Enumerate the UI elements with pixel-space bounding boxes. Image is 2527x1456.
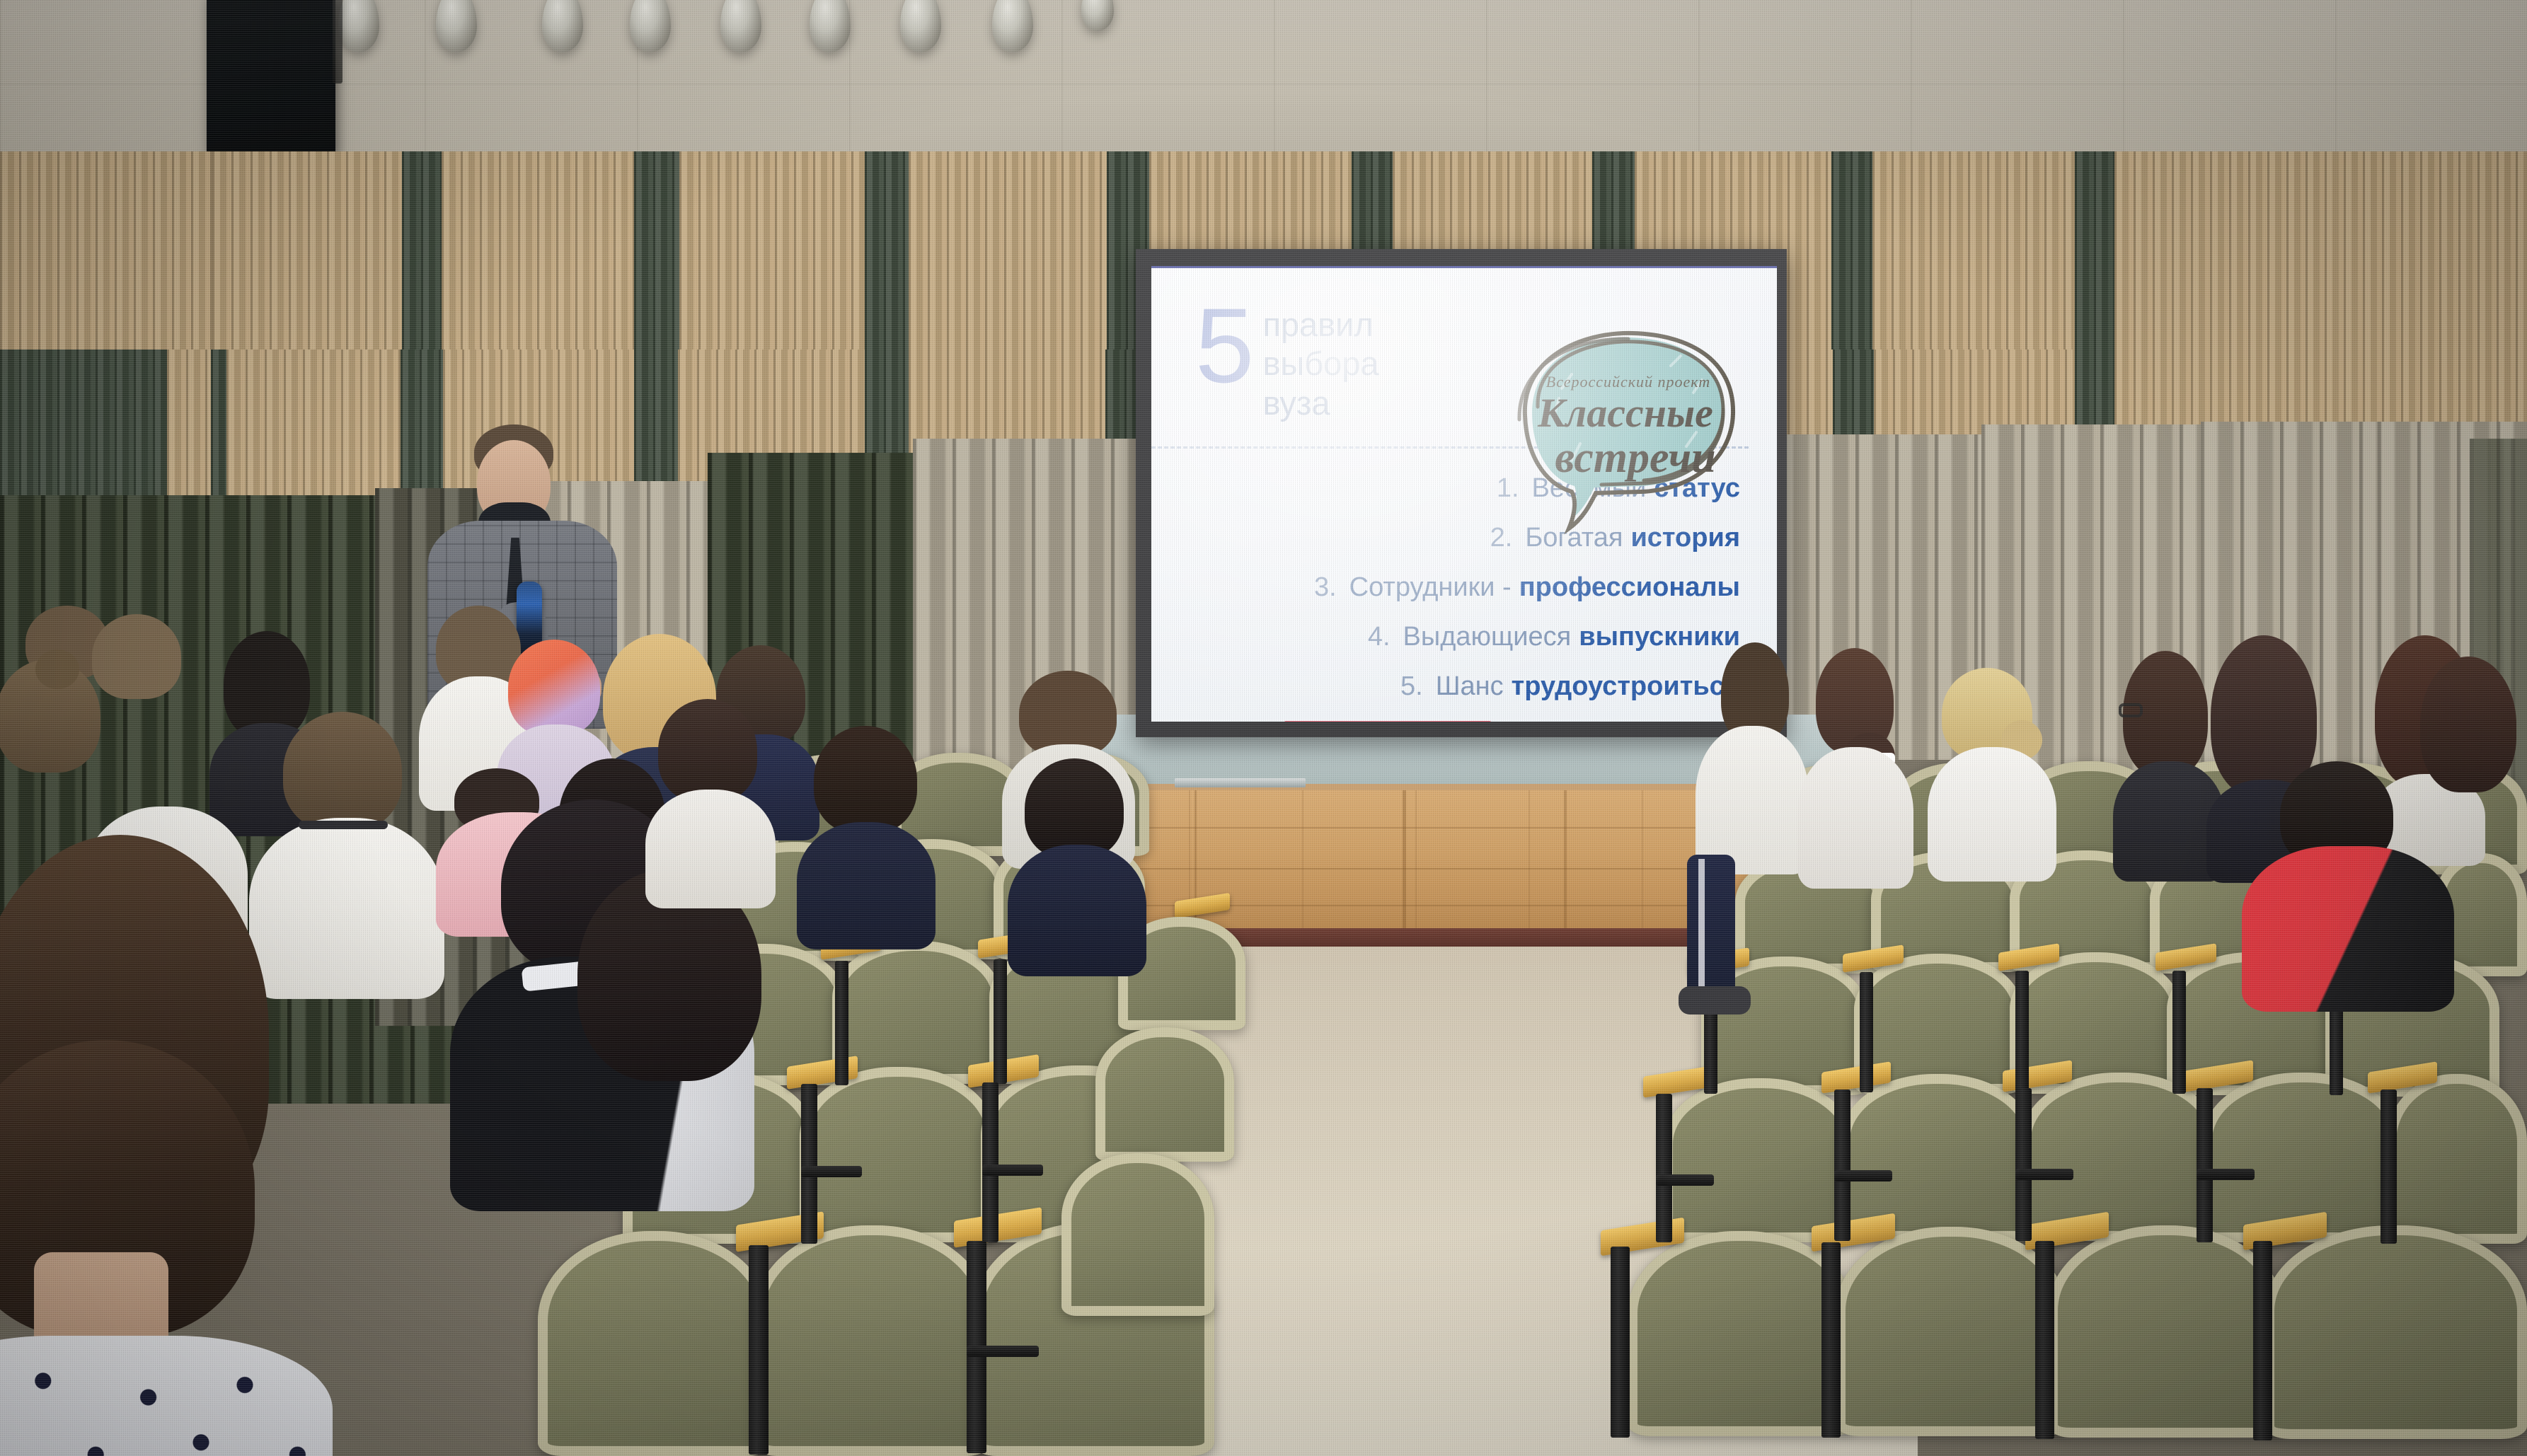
person-leg	[1687, 855, 1735, 996]
seat	[1836, 1227, 2066, 1436]
ceiling-light-icon	[992, 0, 1033, 52]
seat	[1061, 1153, 1214, 1316]
glasses-icon	[2119, 703, 2143, 717]
person-hair	[92, 614, 181, 699]
ceiling-light-icon	[810, 0, 851, 52]
seat-frame-post	[2253, 1241, 2272, 1440]
seat-frame-post	[2035, 1241, 2054, 1439]
list-item: 5. Шанс трудоустроиться	[1151, 671, 1740, 702]
person-torso	[1797, 747, 1913, 889]
person-hair	[814, 726, 917, 833]
list-item-number: 3.	[1314, 572, 1337, 603]
seat-frame-post	[1611, 1247, 1630, 1438]
list-item-number: 4.	[1368, 622, 1391, 652]
list-item-text: Выдающиеся	[1403, 622, 1572, 652]
list-item-keyword: трудоустроиться	[1512, 671, 1740, 702]
ceiling	[0, 0, 2527, 170]
seat	[832, 941, 1002, 1084]
person-hair	[658, 699, 757, 802]
person-leg-stripe	[1698, 859, 1705, 990]
list-item-keyword: профессионалы	[1519, 572, 1740, 603]
slide-big-number: 5	[1195, 296, 1251, 394]
list-item-text: Шанс	[1436, 671, 1504, 702]
person-torso	[797, 822, 936, 949]
ceiling-light-icon	[338, 0, 379, 52]
seat	[538, 1231, 771, 1456]
seat	[1095, 1027, 1234, 1162]
klassnye-vstrechi-logo: Всероссийский проект Классные встречи	[1504, 319, 1751, 538]
seat	[2264, 1225, 2527, 1439]
seat	[2021, 1073, 2219, 1241]
seat	[753, 1225, 991, 1456]
ceiling-light-icon	[720, 0, 761, 52]
seat-frame-post	[1860, 972, 1873, 1092]
seat-frame-post	[1656, 1094, 1672, 1242]
person-hair	[283, 712, 402, 831]
person-torso	[645, 790, 776, 908]
seat-frame-post	[994, 959, 1007, 1084]
seat-frame-post	[749, 1245, 769, 1455]
person-hair	[2420, 657, 2516, 792]
list-item-keyword: выпускники	[1579, 622, 1740, 652]
ceiling-light-icon	[630, 0, 671, 52]
person-hair	[1025, 758, 1124, 859]
seat-frame-post	[2381, 1090, 2397, 1244]
projection-screen: 5 правил выбора вуза 1. Весомый статус 2…	[1136, 249, 1787, 737]
seat-frame-bar	[2015, 1169, 2073, 1180]
person-torso-polka-dot	[0, 1336, 333, 1456]
seat-frame-post	[801, 1084, 817, 1244]
seat	[800, 1067, 996, 1242]
person-torso	[1008, 845, 1146, 976]
person-torso	[249, 818, 444, 999]
person-torso	[1928, 747, 2056, 882]
auditorium-photo: 5 правил выбора вуза 1. Весомый статус 2…	[0, 0, 2527, 1456]
person-shoe	[1679, 986, 1751, 1015]
seat-frame-bar	[1834, 1170, 1892, 1181]
seat-frame-bar	[1656, 1174, 1714, 1186]
seat	[1663, 1078, 1855, 1242]
logo-main-line-2: встречи	[1555, 434, 1715, 482]
seat-frame-bar	[982, 1165, 1043, 1176]
stage-edge-metal-strip	[1175, 778, 1306, 787]
logo-main-line-1: Классные	[1537, 390, 1713, 436]
seat	[1628, 1231, 1854, 1436]
ceiling-light-icon	[542, 0, 583, 52]
seat-frame-bar	[967, 1346, 1039, 1357]
seat-frame-post	[2015, 1088, 2032, 1241]
collar-stripe	[299, 821, 388, 829]
person-hair-dyed	[508, 640, 600, 736]
list-item: 4. Выдающиеся выпускники	[1151, 622, 1740, 652]
person-torso	[2242, 846, 2454, 1012]
ceiling-light-icon	[436, 0, 477, 52]
slide-heading-words: правил выбора вуза	[1262, 305, 1378, 422]
seat-frame-bar	[801, 1166, 862, 1177]
person-hair	[103, 700, 224, 819]
person-hair-bun	[35, 649, 79, 689]
ceiling-speaker-icon	[207, 0, 335, 154]
slide-heading-line-1: правил	[1262, 305, 1378, 344]
list-item-text: Сотрудники -	[1349, 572, 1512, 603]
ceiling-light-icon	[900, 0, 941, 52]
slide-heading: 5 правил выбора вуза	[1195, 296, 1379, 422]
slide-highlight-rule	[1284, 721, 1491, 722]
list-item-number: 5.	[1400, 671, 1423, 702]
seat-frame-post	[1834, 1090, 1850, 1241]
seat-frame-post	[2197, 1088, 2213, 1242]
seat-frame-post	[2172, 971, 2186, 1094]
seat-frame-post	[2015, 971, 2029, 1092]
seat-frame-post	[835, 961, 848, 1085]
list-item: 3. Сотрудники - профессионалы	[1151, 572, 1740, 603]
seat-frame-post	[982, 1082, 998, 1242]
person-torso	[1696, 726, 1809, 874]
seat	[1840, 1074, 2035, 1241]
slide-heading-line-2: выбора	[1262, 344, 1378, 383]
seat	[2386, 1074, 2527, 1244]
slide-heading-line-3: вуза	[1262, 383, 1378, 422]
seat	[2048, 1225, 2283, 1438]
logo-top-text: Всероссийский проект	[1546, 373, 1710, 391]
seat-frame-bar	[2197, 1169, 2255, 1180]
slide-surface: 5 правил выбора вуза 1. Весомый статус 2…	[1151, 266, 1777, 722]
seat-frame-post	[1821, 1242, 1841, 1438]
